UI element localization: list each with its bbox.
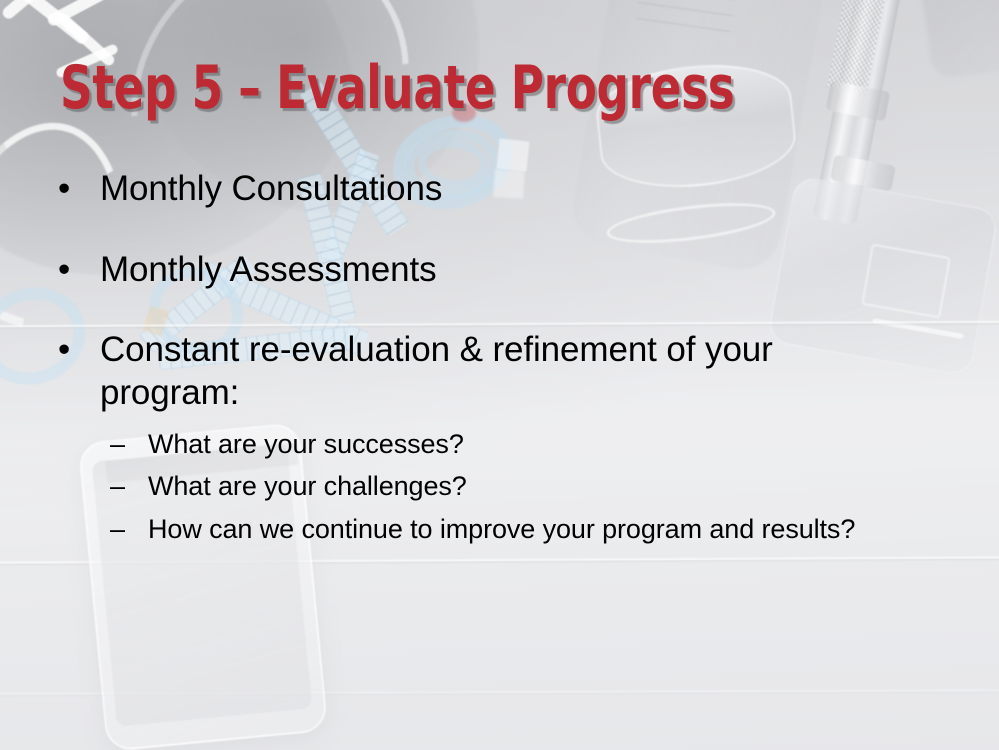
- bullet-marker-icon: •: [58, 329, 100, 372]
- sub-bullet-text: What are your successes?: [148, 427, 908, 462]
- dash-marker-icon: –: [110, 469, 125, 504]
- slide-title: Step 5 – Evaluate Progress: [60, 58, 734, 118]
- sub-bullet-text: How can we continue to improve your prog…: [148, 512, 896, 547]
- bullet-text: Monthly Consultations: [56, 168, 442, 211]
- sub-bullet-item-3: – How can we continue to improve your pr…: [0, 512, 960, 547]
- dumbbell-background-icon: [916, 0, 999, 80]
- sub-bullet-item-2: – What are your challenges?: [0, 469, 960, 504]
- sub-bullet-text: What are your challenges?: [148, 469, 908, 504]
- bullet-marker-icon: •: [58, 249, 100, 292]
- bullet-text: Monthly Assessments: [56, 249, 437, 292]
- slide-body: • Monthly Consultations • Monthly Assess…: [0, 168, 960, 554]
- sub-bullet-list: – What are your successes? – What are yo…: [0, 427, 960, 547]
- white-label-icon: [497, 139, 530, 172]
- bullet-text: Constant re-evaluation & refinement of y…: [56, 329, 816, 414]
- bullet-item-2: • Monthly Assessments: [0, 249, 960, 292]
- dash-marker-icon: –: [110, 427, 125, 462]
- sub-bullet-item-1: – What are your successes?: [0, 427, 960, 462]
- bullet-item-3: • Constant re-evaluation & refinement of…: [0, 329, 960, 414]
- bullet-item-1: • Monthly Consultations: [0, 168, 960, 211]
- dash-marker-icon: –: [110, 512, 125, 547]
- bullet-marker-icon: •: [58, 168, 100, 211]
- presentation-slide: Step 5 – Evaluate Progress • Monthly Con…: [0, 0, 999, 750]
